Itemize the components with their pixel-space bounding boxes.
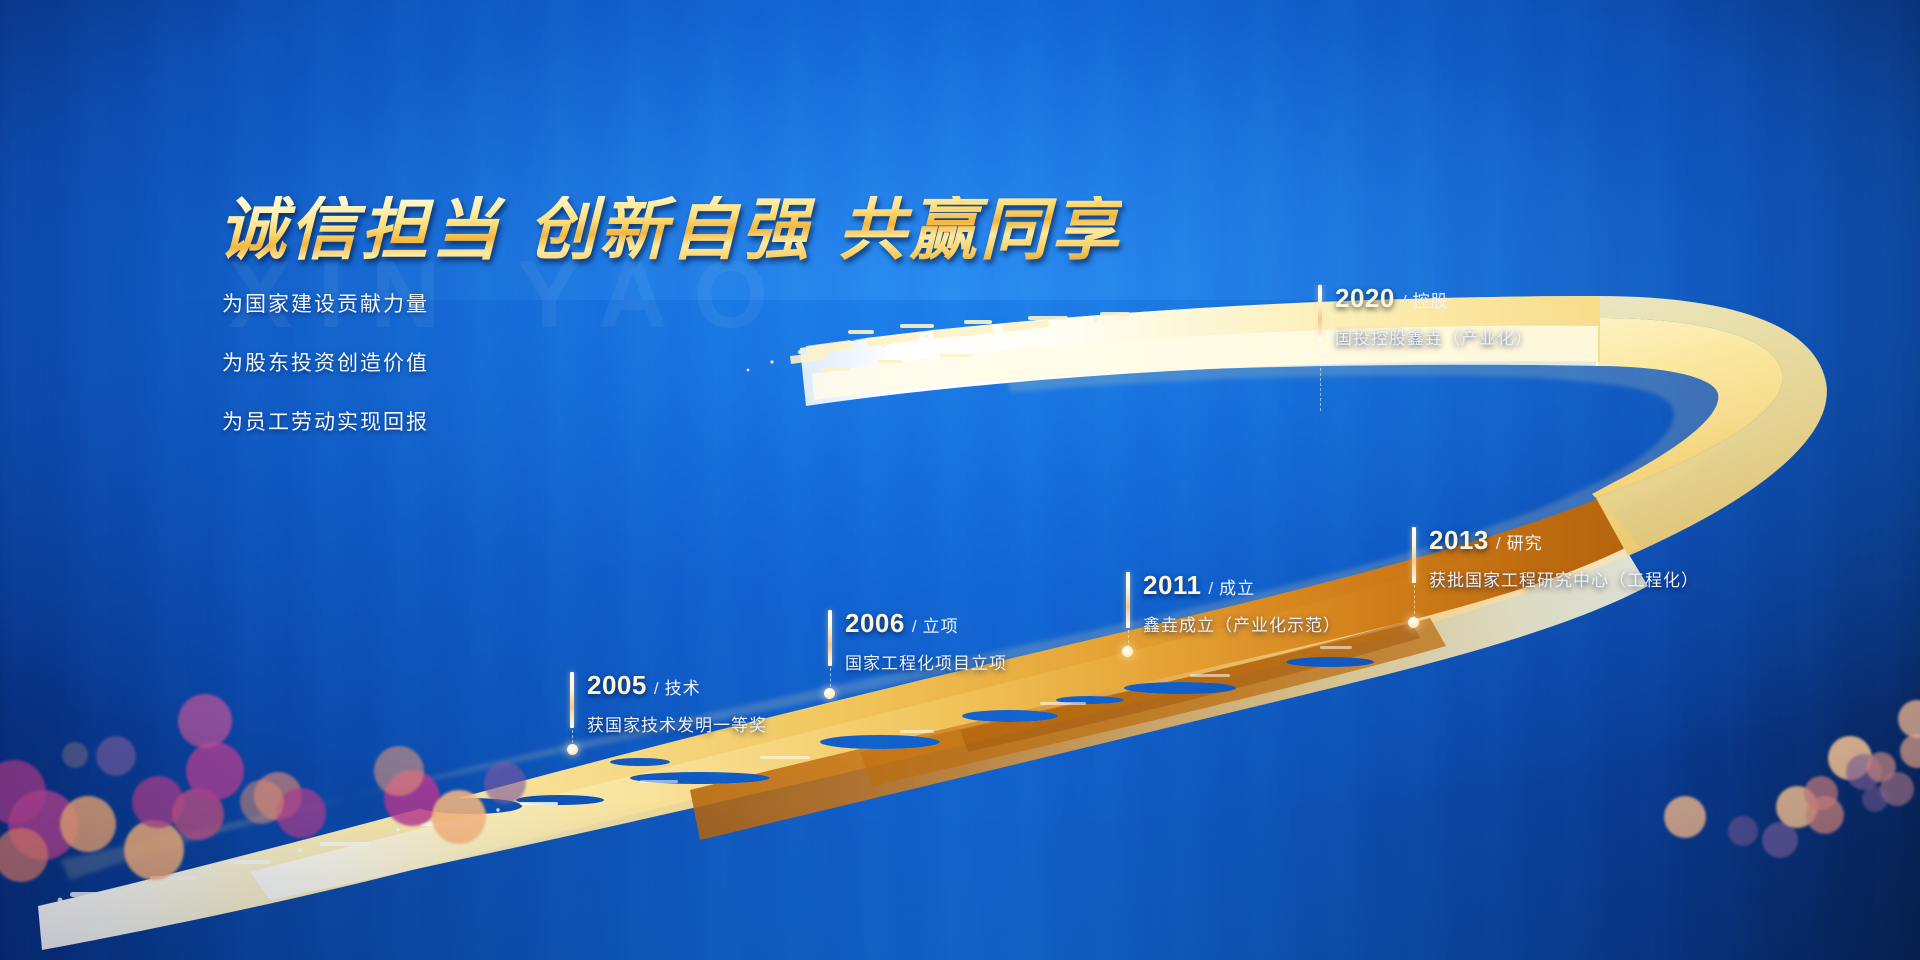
bokeh-circle: [62, 742, 88, 768]
timeline-item-2006[interactable]: 2006 / 立项 国家工程化项目立项: [828, 608, 1007, 674]
bokeh-circle: [178, 694, 232, 748]
bokeh-circle: [1804, 776, 1838, 810]
subtitle-list: 为国家建设贡献力量 为股东投资创造价值 为员工劳动实现回报: [222, 288, 429, 465]
brush-ribbon-graphic: [0, 0, 1920, 960]
bokeh-circle: [1776, 786, 1818, 828]
bokeh-circle: [276, 788, 326, 838]
timeline-description: 国投控股鑫垚（产业化）: [1335, 324, 1533, 349]
timeline-separator: /: [1496, 534, 1501, 554]
timeline-category: 立项: [923, 612, 959, 637]
timeline-connector: [1320, 343, 1321, 411]
timeline-dot: [1122, 646, 1133, 657]
timeline-year: 2005: [587, 670, 647, 701]
headline-part-2: 创新自强: [528, 190, 812, 270]
timeline-category: 成立: [1219, 574, 1255, 599]
timeline-year: 2006: [845, 608, 905, 639]
bokeh-circle: [432, 790, 486, 844]
bokeh-circle: [60, 796, 116, 852]
marker-bar: [1126, 572, 1130, 628]
bokeh-circle: [172, 788, 224, 840]
timeline-item-2020[interactable]: 2020 / 控股 国投控股鑫垚（产业化）: [1318, 283, 1533, 349]
timeline-dot: [567, 744, 578, 755]
bokeh-circle: [0, 760, 46, 824]
subtitle-line: 为员工劳动实现回报: [222, 406, 429, 436]
headline-part-1: 诚信担当: [218, 190, 502, 270]
bokeh-circle: [1866, 752, 1896, 782]
timeline-category: 研究: [1507, 529, 1543, 554]
timeline-separator: /: [1402, 292, 1407, 312]
bokeh-circle: [132, 776, 184, 828]
timeline-description: 国家工程化项目立项: [845, 649, 1007, 674]
timeline-item-2013[interactable]: 2013 / 研究 获批国家工程研究中心（工程化）: [1412, 525, 1699, 591]
bokeh-circle: [8, 790, 78, 860]
page-title: 诚信担当创新自强共赢同享: [218, 196, 1122, 264]
headline-block: XIN YAO 诚信担当创新自强共赢同享: [218, 196, 1122, 264]
bokeh-circle: [124, 820, 184, 880]
bokeh-circle: [186, 742, 244, 800]
timeline-description: 获批国家工程研究中心（工程化）: [1429, 566, 1699, 591]
timeline-separator: /: [1208, 579, 1213, 599]
timeline-connector: [1414, 585, 1415, 619]
bokeh-circle: [1846, 754, 1882, 790]
bokeh-circle: [0, 828, 48, 882]
bokeh-circle: [374, 746, 424, 796]
timeline-separator: /: [912, 617, 917, 637]
marker-bar: [1412, 527, 1416, 583]
marker-bar: [570, 672, 574, 728]
bokeh-circle: [384, 770, 440, 826]
subtitle-line: 为国家建设贡献力量: [222, 288, 429, 318]
bokeh-circle: [1728, 816, 1758, 846]
bokeh-circle: [96, 736, 136, 776]
headline-part-3: 共赢同享: [838, 190, 1122, 270]
timeline-separator: /: [654, 679, 659, 699]
bokeh-circle: [240, 780, 284, 824]
bokeh-circle: [484, 762, 526, 804]
timeline-year: 2011: [1143, 570, 1201, 601]
timeline-item-2005[interactable]: 2005 / 技术 获国家技术发明一等奖: [570, 670, 767, 736]
bokeh-circle: [254, 772, 302, 820]
timeline-year: 2013: [1429, 525, 1489, 556]
timeline-dot: [1408, 617, 1419, 628]
marker-bar: [1318, 285, 1322, 341]
subtitle-line: 为股东投资创造价值: [222, 347, 429, 377]
bokeh-circle: [1828, 736, 1872, 780]
bokeh-circle: [1664, 796, 1706, 838]
background-light-streaks: [0, 0, 1920, 960]
timeline-description: 鑫垚成立（产业化示范）: [1143, 611, 1341, 636]
timeline-description: 获国家技术发明一等奖: [587, 711, 767, 736]
marker-bar: [828, 610, 832, 666]
banner-canvas: XIN YAO 诚信担当创新自强共赢同享 为国家建设贡献力量 为股东投资创造价值…: [0, 0, 1920, 960]
timeline-item-2011[interactable]: 2011 / 成立 鑫垚成立（产业化示范）: [1126, 570, 1341, 636]
bokeh-circle: [1862, 786, 1888, 812]
timeline-category: 技术: [665, 674, 701, 699]
bokeh-circle: [1900, 734, 1920, 768]
timeline-dot: [824, 688, 835, 699]
bokeh-circle: [1898, 700, 1920, 738]
timeline-year: 2020: [1335, 283, 1395, 314]
bokeh-circle: [1762, 822, 1798, 858]
bokeh-circle: [1880, 772, 1914, 806]
bokeh-circle: [1806, 796, 1844, 834]
vignette-overlay: [0, 0, 1920, 960]
timeline-category: 控股: [1413, 287, 1449, 312]
